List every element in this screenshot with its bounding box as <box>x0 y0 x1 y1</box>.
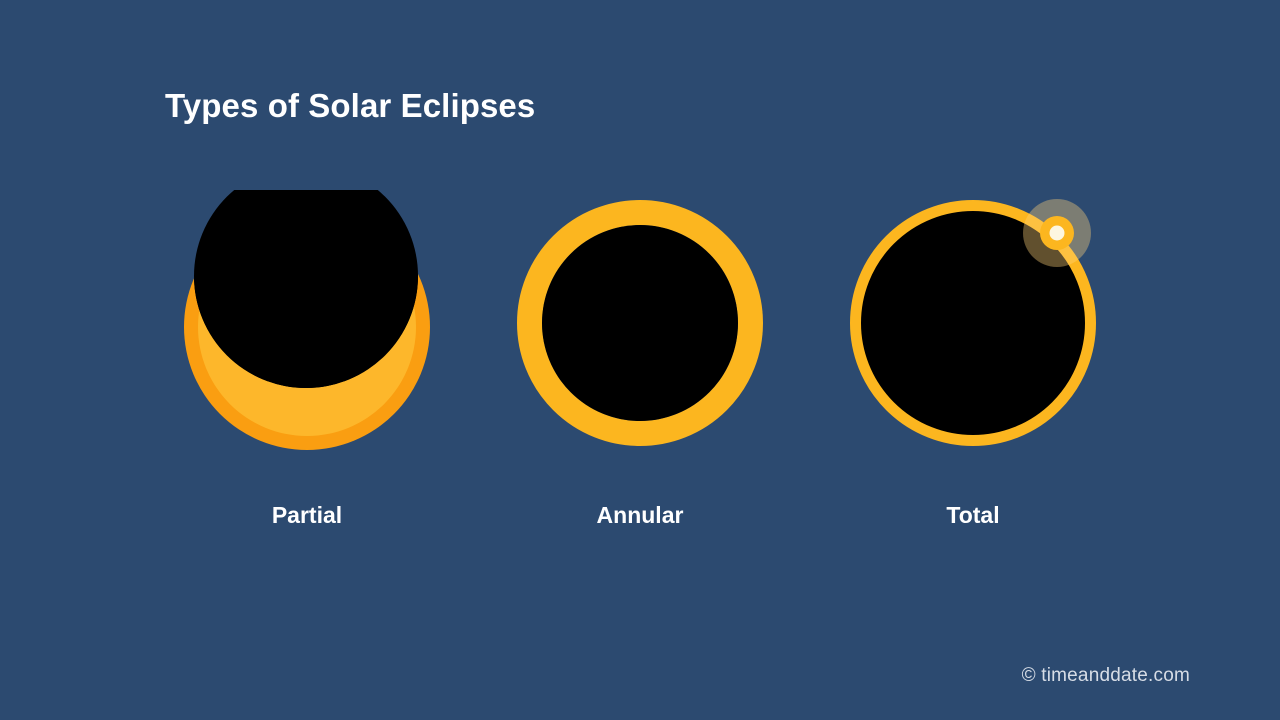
eclipse-label-partial: Partial <box>167 502 447 529</box>
partial-eclipse-figure <box>167 190 447 470</box>
eclipse-item-partial: Partial <box>167 190 447 550</box>
eclipse-item-total: Total <box>833 190 1113 550</box>
infographic-canvas: Types of Solar Eclipses Partial <box>0 0 1280 720</box>
eclipse-label-total: Total <box>833 502 1113 529</box>
partial-eclipse-graphic <box>167 190 447 470</box>
copyright-credit: © timeanddate.com <box>1022 665 1190 687</box>
annular-eclipse-graphic <box>500 190 780 470</box>
annular-eclipse-figure <box>500 190 780 470</box>
page-title: Types of Solar Eclipses <box>165 84 535 128</box>
diamond-ring-core <box>1050 226 1065 241</box>
eclipse-item-annular: Annular <box>500 190 780 550</box>
eclipse-label-annular: Annular <box>500 502 780 529</box>
total-eclipse-graphic <box>833 190 1113 470</box>
total-eclipse-figure <box>833 190 1113 470</box>
moon-silhouette <box>542 225 738 421</box>
